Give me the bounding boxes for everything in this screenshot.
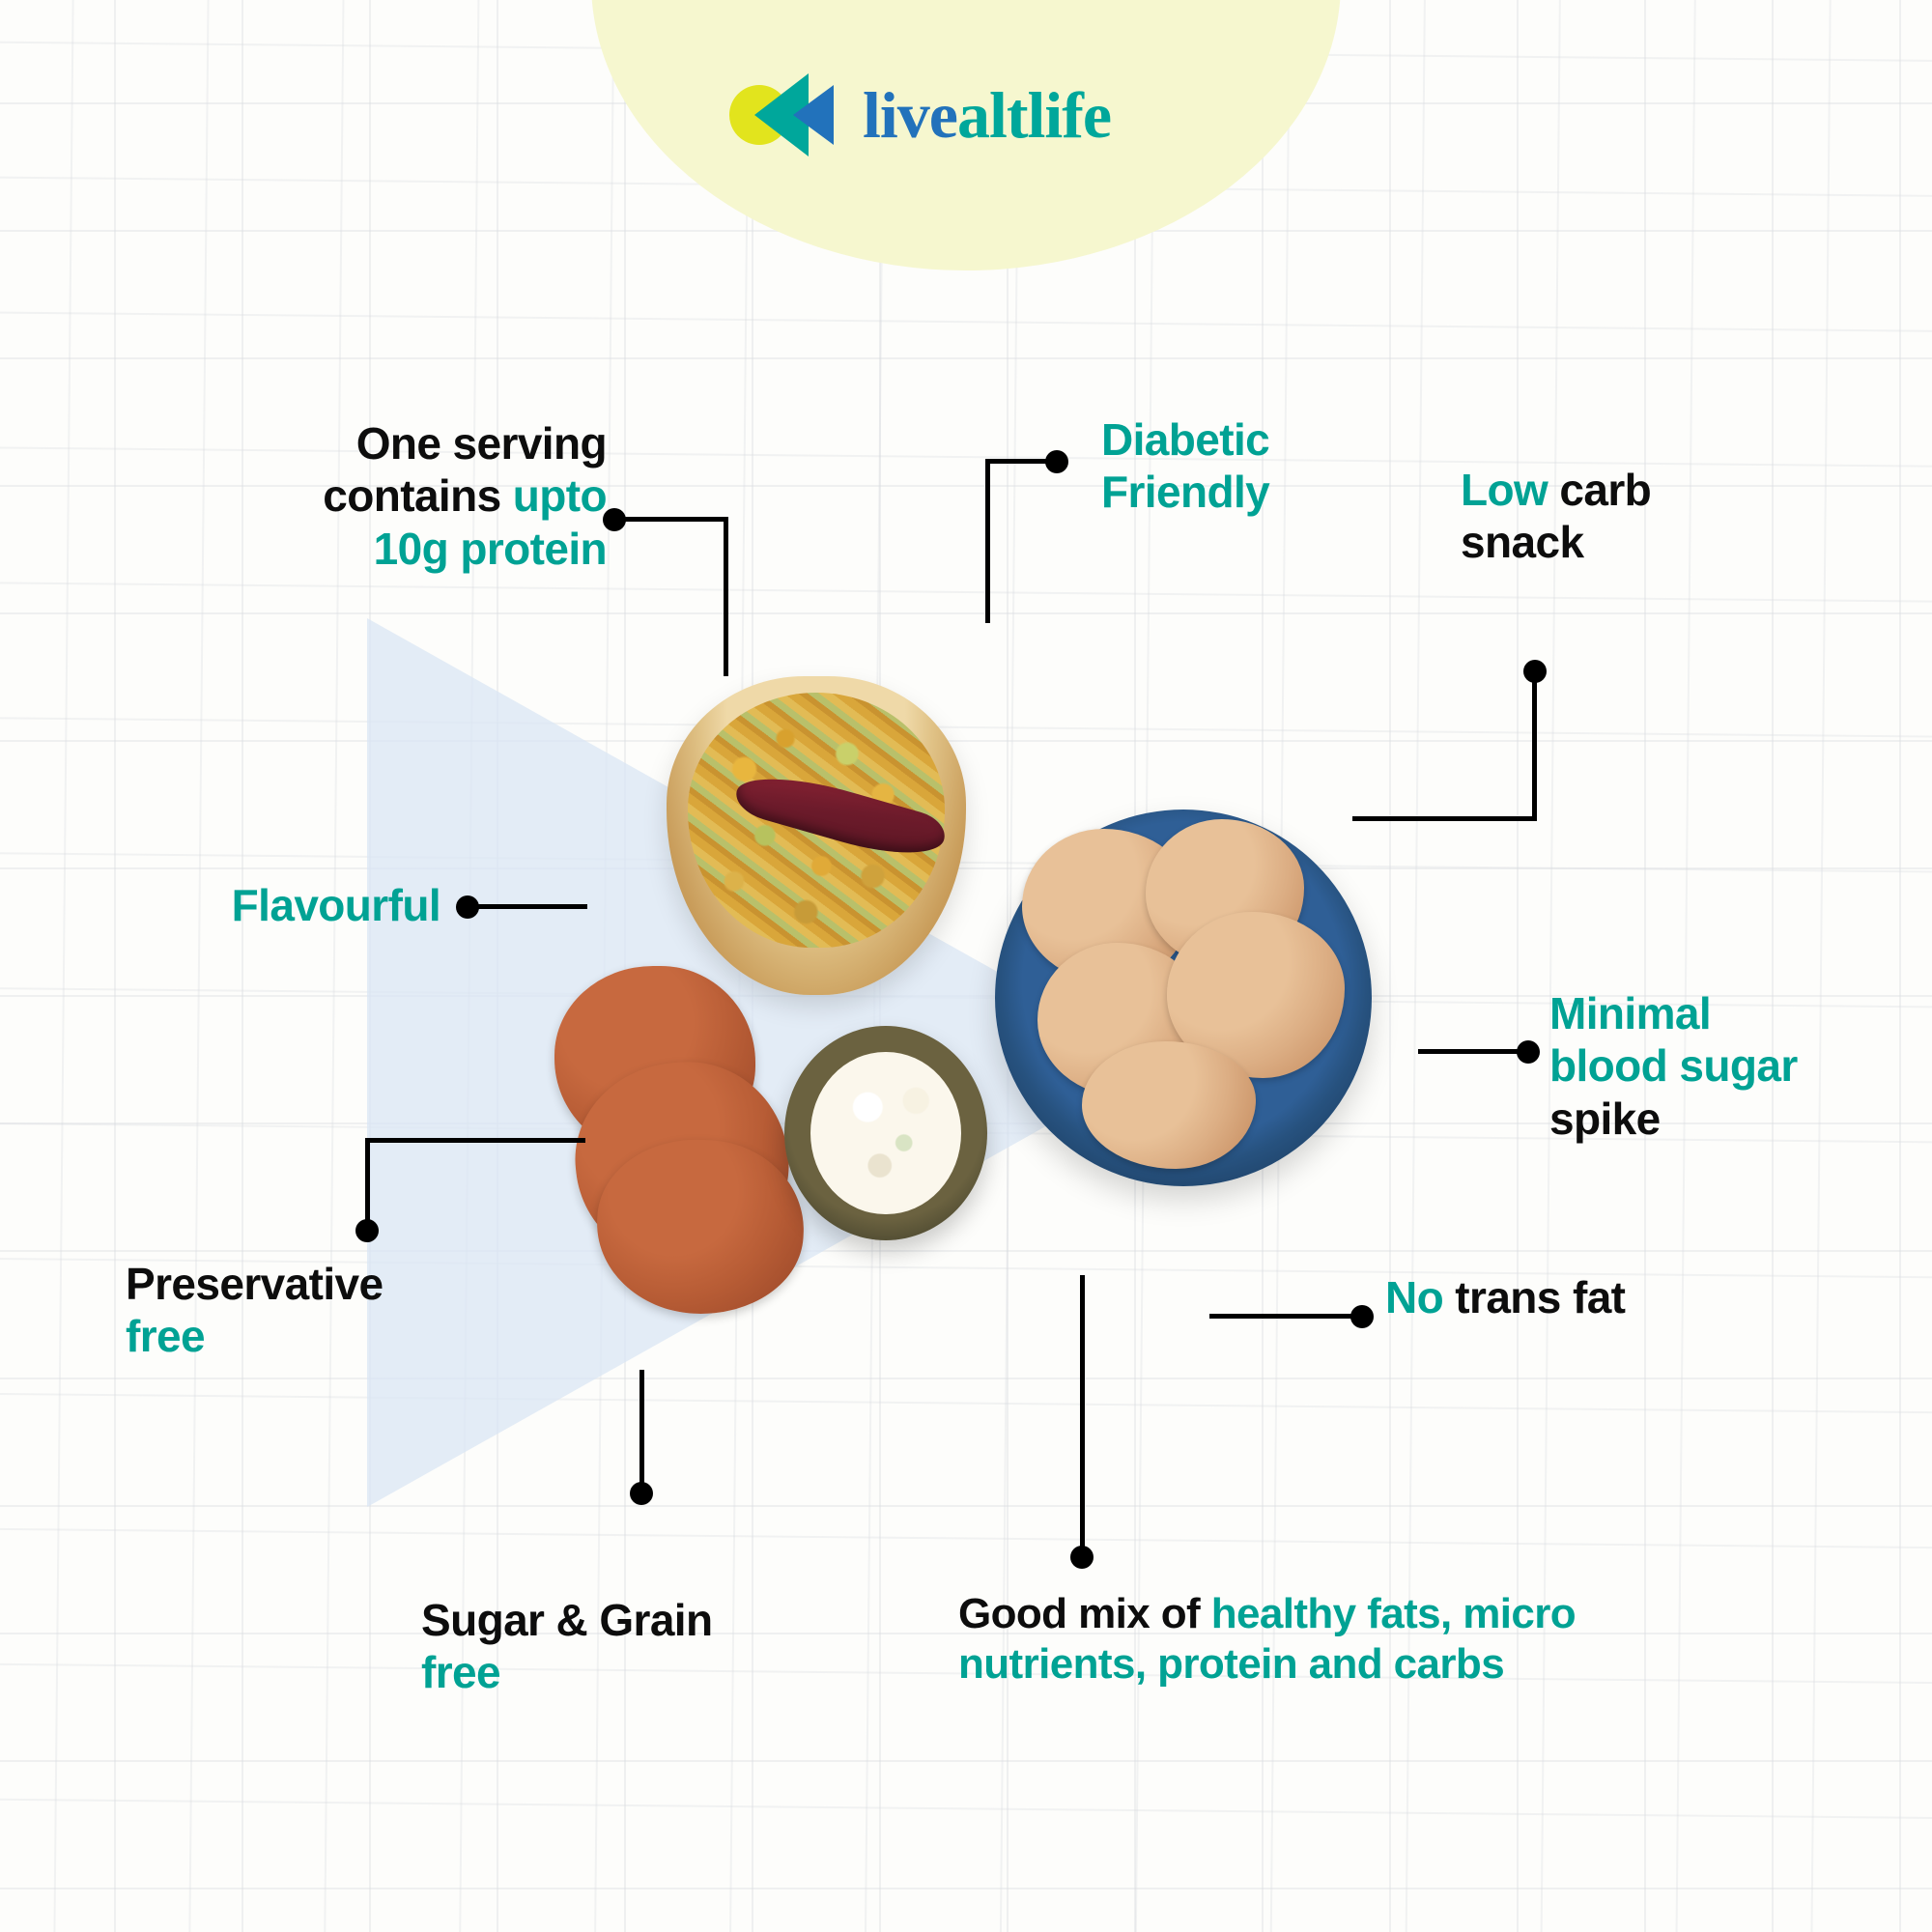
callout-goodmix-line2: nutrients, protein and carbs bbox=[958, 1640, 1504, 1688]
connector-lowcarb-horizontal bbox=[1352, 816, 1537, 821]
white-dip-bowl bbox=[784, 1026, 987, 1240]
callout-protein-line1: One serving bbox=[356, 418, 607, 469]
callout-goodmix-line1-highlight: healthy fats, micro bbox=[1211, 1590, 1576, 1637]
callout-flavourful: Flavourful bbox=[189, 879, 440, 931]
callout-protein: One serving contains upto 10g protein bbox=[240, 417, 607, 575]
connector-node-flavourful bbox=[456, 895, 479, 919]
connector-protein-horizontal bbox=[622, 517, 728, 522]
brand-word-live: live bbox=[863, 78, 957, 152]
connector-node-transfat bbox=[1350, 1305, 1374, 1328]
callout-goodmix-line1: Good mix of bbox=[958, 1590, 1211, 1637]
callout-sugar-line2: free bbox=[421, 1647, 500, 1697]
connector-minimal-horizontal bbox=[1418, 1049, 1532, 1054]
callout-minimal-line3: spike bbox=[1549, 1094, 1661, 1144]
callout-transfat-highlight: No bbox=[1385, 1272, 1443, 1322]
callout-good-mix: Good mix of healthy fats, micro nutrient… bbox=[958, 1589, 1741, 1690]
callout-diabetic-line1: Diabetic bbox=[1101, 414, 1269, 465]
callout-low-carb-snack: Low carb snack bbox=[1461, 464, 1779, 569]
brand-word-altlife: altlife bbox=[957, 78, 1111, 152]
brand-logo[interactable]: livealtlife bbox=[729, 73, 1111, 156]
callout-transfat-text: trans fat bbox=[1443, 1272, 1625, 1322]
connector-transfat-horizontal bbox=[1209, 1314, 1364, 1319]
callout-minimal-blood-sugar-spike: Minimal blood sugar spike bbox=[1549, 987, 1888, 1145]
connector-node-sugar bbox=[630, 1482, 653, 1505]
connector-protein-vertical bbox=[724, 517, 728, 676]
connector-node-diabetic bbox=[1045, 450, 1068, 473]
connector-lowcarb-vertical bbox=[1532, 668, 1537, 821]
callout-sugar-grain-free: Sugar & Grain free bbox=[421, 1594, 808, 1699]
callout-lowcarb-highlight: Low bbox=[1461, 465, 1548, 515]
connector-flavourful-horizontal bbox=[475, 904, 587, 909]
callout-preservative-line2: free bbox=[126, 1311, 205, 1361]
callout-preservative-line1: Preservative bbox=[126, 1259, 383, 1309]
connector-node-minimal bbox=[1517, 1040, 1540, 1064]
connector-node-goodmix bbox=[1070, 1546, 1094, 1569]
callout-diabetic-line2: Friendly bbox=[1101, 467, 1269, 517]
callout-minimal-line1: Minimal bbox=[1549, 988, 1711, 1038]
connector-node-preservative bbox=[355, 1219, 379, 1242]
callout-protein-line2: contains bbox=[323, 470, 513, 521]
infographic-canvas: livealtlife bbox=[0, 0, 1932, 1932]
callout-diabetic-friendly: Diabetic Friendly bbox=[1101, 413, 1420, 519]
callout-no-trans-fat: No trans fat bbox=[1385, 1271, 1714, 1323]
connector-node-lowcarb bbox=[1523, 660, 1547, 683]
logo-blue-triangle bbox=[793, 85, 834, 145]
callout-minimal-line2: blood sugar bbox=[1549, 1040, 1798, 1091]
brand-wordmark: livealtlife bbox=[863, 82, 1111, 148]
papad-5 bbox=[1082, 1041, 1256, 1169]
callout-lowcarb-line2: snack bbox=[1461, 517, 1583, 567]
callout-preservative-free: Preservative free bbox=[126, 1258, 473, 1363]
callout-sugar-line1: Sugar & Grain bbox=[421, 1595, 713, 1645]
connector-diabetic-vertical bbox=[985, 459, 990, 623]
callout-lowcarb-line1: carb bbox=[1548, 465, 1651, 515]
double-left-triangle-logo-icon bbox=[729, 73, 841, 156]
callout-protein-line2-highlight: upto bbox=[513, 470, 607, 521]
callout-protein-line3-highlight: 10g protein bbox=[374, 524, 607, 574]
callout-flavourful-text: Flavourful bbox=[232, 880, 440, 930]
connector-preservative-vertical bbox=[365, 1138, 370, 1231]
connector-preservative-horizontal bbox=[365, 1138, 585, 1143]
connector-goodmix-vertical bbox=[1080, 1275, 1085, 1557]
connector-sugar-vertical bbox=[639, 1370, 644, 1493]
